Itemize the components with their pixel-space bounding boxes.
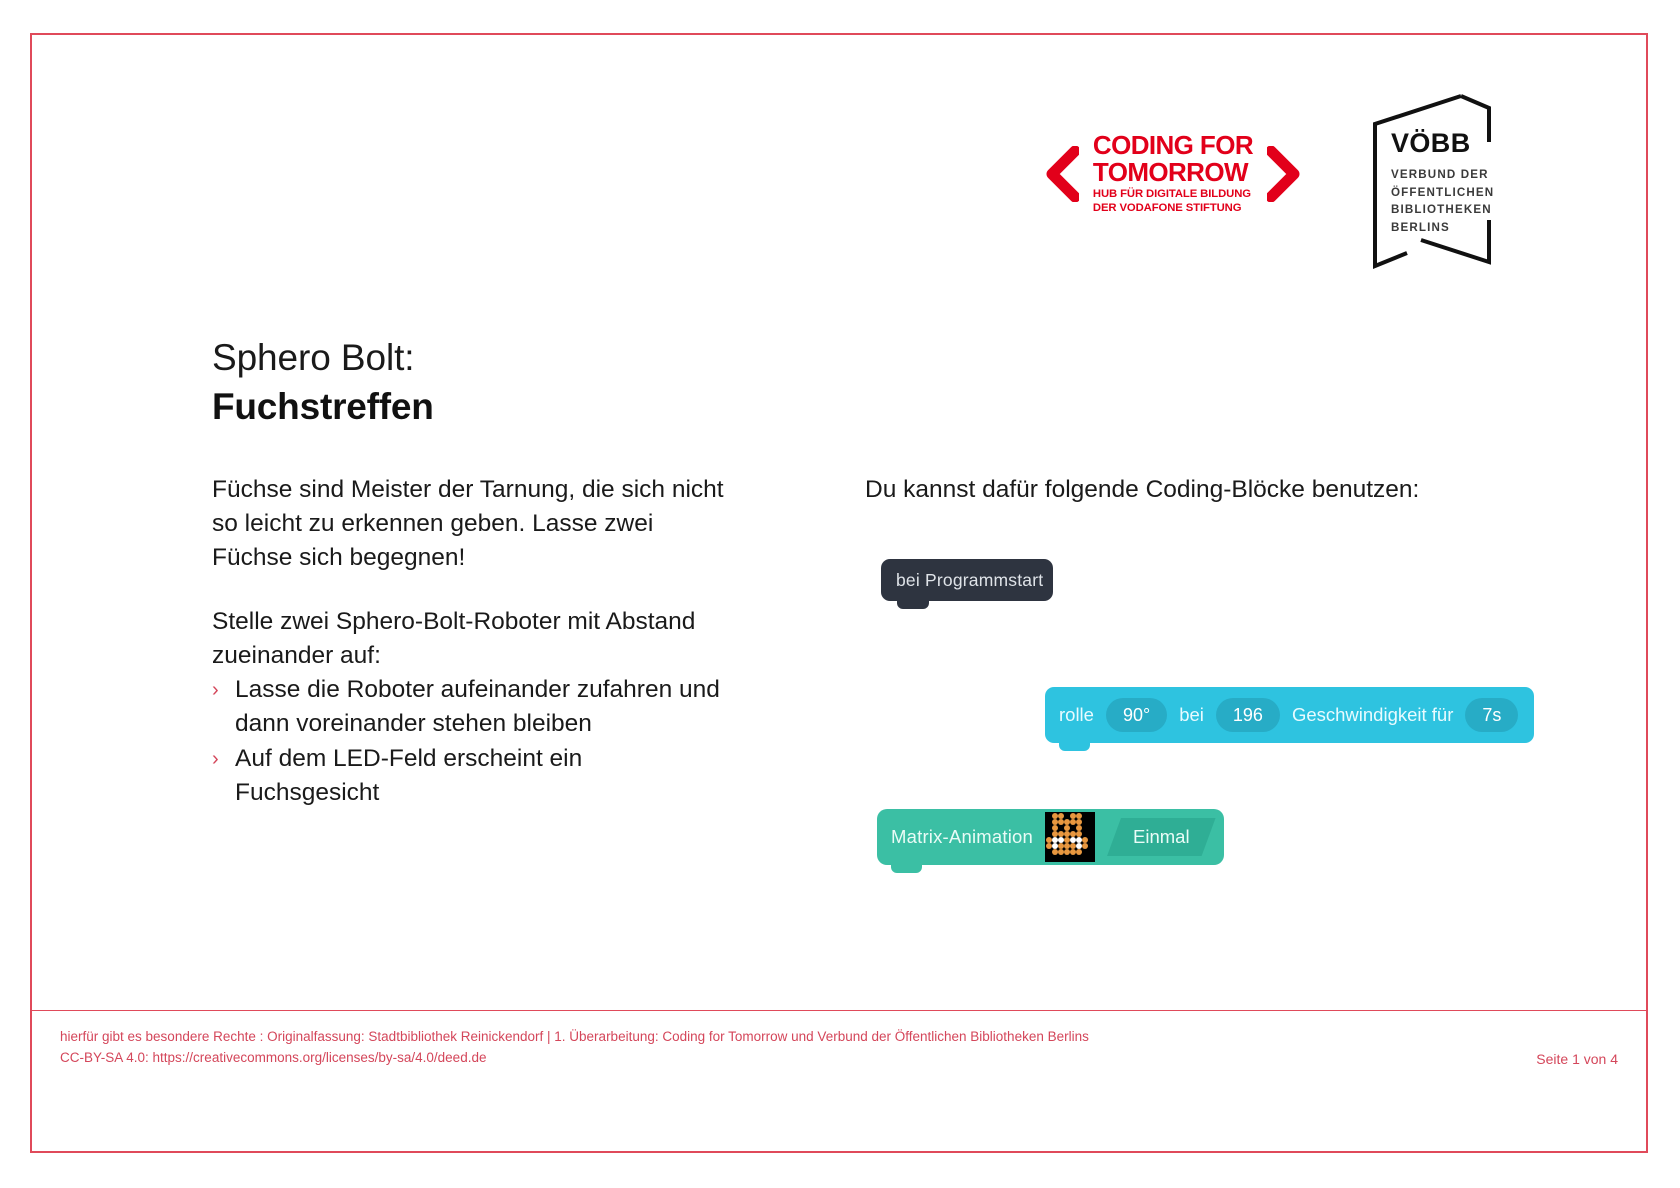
footer: hierfür gibt es besondere Rechte : Origi… [60, 1027, 1618, 1070]
title-line1: Sphero Bolt: [212, 335, 434, 380]
block-label: Matrix-Animation [891, 826, 1033, 848]
led-pixel [1088, 855, 1094, 861]
block-notch [1059, 742, 1090, 751]
block-notch [897, 600, 929, 609]
block-bei-programmstart[interactable]: bei Programmstart [881, 559, 1053, 601]
block-rolle[interactable]: rolle 90° bei 196 Geschwindigkeit für 7s [1045, 687, 1534, 743]
matrix-repeat-dropdown[interactable]: Einmal [1107, 818, 1216, 856]
footer-divider [32, 1010, 1646, 1011]
coding-for-tomorrow-logo: CODING FOR TOMORROW HUB FÜR DIGITALE BIL… [1045, 132, 1301, 216]
chevron-bullet-icon: › [212, 673, 219, 707]
task-bullet-list: › Lasse die Roboter aufeinander zufahren… [212, 673, 732, 810]
logo-row: CODING FOR TOMORROW HUB FÜR DIGITALE BIL… [1045, 90, 1511, 280]
page-frame: CODING FOR TOMORROW HUB FÜR DIGITALE BIL… [30, 33, 1648, 1153]
roll-word-rolle: rolle [1059, 704, 1094, 726]
block-matrix-animation[interactable]: Matrix-Animation Einmal [877, 809, 1224, 865]
list-item-label: Lasse die Roboter aufeinander zufahren u… [235, 676, 720, 737]
voebb-subtitle: VERBUND DER ÖFFENTLICHEN BIBLIOTHEKEN BE… [1391, 166, 1494, 236]
footer-line-2: CC-BY-SA 4.0: https://creativecommons.or… [60, 1048, 1089, 1069]
roll-input-angle[interactable]: 90° [1106, 698, 1167, 733]
chevron-right-icon [1267, 146, 1301, 202]
chevron-bullet-icon: › [212, 742, 219, 776]
page-number: Seite 1 von 4 [1536, 1027, 1618, 1070]
block-label: bei Programmstart [896, 570, 1043, 591]
voebb-title: VÖBB [1391, 130, 1494, 157]
page-title: Sphero Bolt: Fuchstreffen [212, 335, 434, 429]
voebb-logo: VÖBB VERBUND DER ÖFFENTLICHEN BIBLIOTHEK… [1361, 90, 1511, 280]
list-item: › Auf dem LED-Feld erscheint ein Fuchsge… [212, 742, 732, 810]
roll-input-duration[interactable]: 7s [1465, 698, 1518, 733]
cft-line1: CODING FOR [1093, 132, 1253, 159]
chevron-left-icon [1045, 146, 1079, 202]
title-line2: Fuchstreffen [212, 384, 434, 429]
list-item-label: Auf dem LED-Feld erscheint ein Fuchsgesi… [235, 745, 582, 806]
fox-face-led-matrix [1045, 812, 1095, 862]
list-item: › Lasse die Roboter aufeinander zufahren… [212, 673, 732, 741]
roll-word-geschwindigkeit: Geschwindigkeit für [1292, 704, 1453, 726]
cft-sub2: DER VODAFONE STIFTUNG [1093, 202, 1253, 216]
intro-paragraph: Füchse sind Meister der Tarnung, die sic… [212, 473, 732, 575]
footer-license: hierfür gibt es besondere Rechte : Origi… [60, 1027, 1089, 1068]
cft-line2: TOMORROW [1093, 159, 1253, 186]
cft-wordmark: CODING FOR TOMORROW HUB FÜR DIGITALE BIL… [1093, 132, 1253, 216]
cft-sub1: HUB FÜR DIGITALE BILDUNG [1093, 188, 1253, 202]
right-column: Du kannst dafür folgende Coding-Blöcke b… [865, 473, 1625, 889]
left-column: Füchse sind Meister der Tarnung, die sic… [212, 473, 732, 811]
roll-input-speed[interactable]: 196 [1216, 698, 1280, 733]
blocks-intro: Du kannst dafür folgende Coding-Blöcke b… [865, 473, 1625, 507]
roll-word-bei: bei [1179, 704, 1204, 726]
setup-paragraph: Stelle zwei Sphero-Bolt-Roboter mit Abst… [212, 605, 732, 673]
footer-line-1: hierfür gibt es besondere Rechte : Origi… [60, 1027, 1089, 1048]
coding-blocks: bei Programmstart rolle 90° bei 196 Gesc… [865, 559, 1625, 889]
block-notch [891, 864, 922, 873]
voebb-wordmark: VÖBB VERBUND DER ÖFFENTLICHEN BIBLIOTHEK… [1391, 130, 1494, 236]
